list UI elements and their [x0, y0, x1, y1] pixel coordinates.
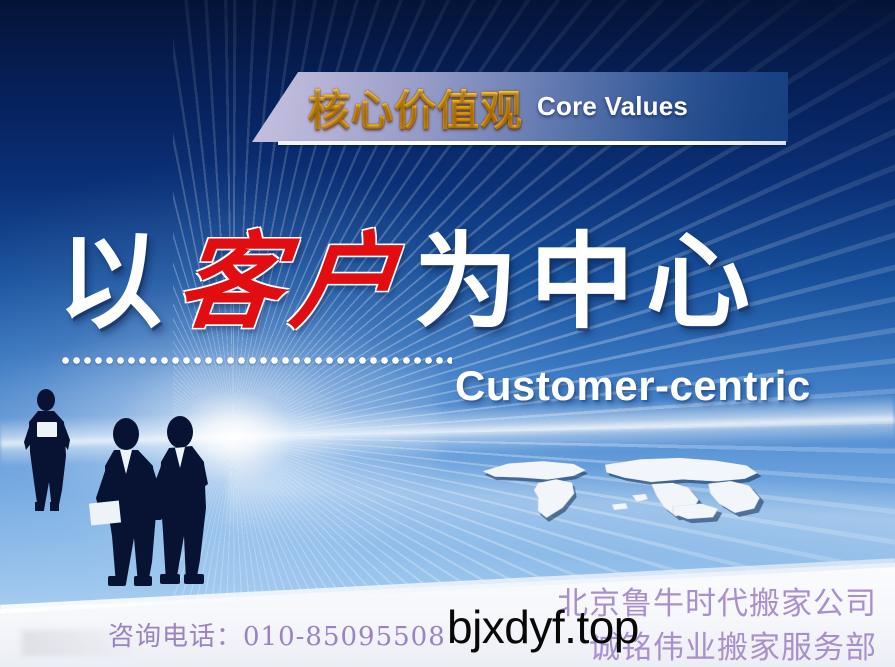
headline-part-3: 为中心 — [414, 230, 762, 334]
title-banner: 核心价值观 Core Values — [252, 72, 788, 142]
dotted-divider — [60, 356, 452, 365]
banner-content: 核心价值观 Core Values — [252, 72, 788, 142]
banner-title-chinese: 核心价值观 — [308, 77, 523, 138]
world-map-icon — [410, 451, 891, 546]
contact-phone: 咨询电话：010-85095508 — [108, 616, 446, 653]
headline-subtitle-english: Customer-centric — [455, 362, 811, 410]
banner-underline — [278, 141, 786, 145]
watermark-text: bjxdyf.top — [447, 600, 639, 654]
poster-canvas: 核心价值观 Core Values 以 客户 为中心 Customer-cent… — [0, 0, 895, 667]
business-people-silhouette-icon — [8, 386, 238, 616]
main-headline: 以 客户 为中心 — [58, 218, 848, 346]
banner-title-english: Core Values — [537, 91, 688, 122]
headline-part-1: 以 — [58, 230, 174, 334]
headline-part-2-emphasis: 客户 — [173, 230, 412, 334]
